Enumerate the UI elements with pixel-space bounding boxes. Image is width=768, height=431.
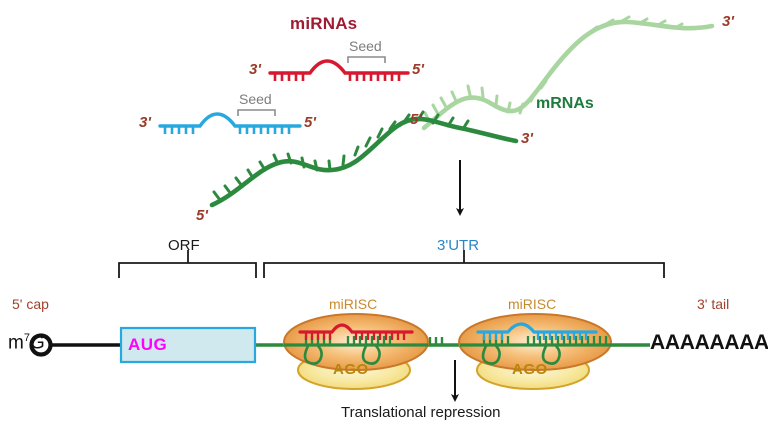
utr-label: 3'UTR: [437, 238, 479, 253]
orf-bracket: [119, 250, 256, 278]
diagram-graphics: [0, 0, 768, 431]
figure-canvas: miRNAs mRNAs 3' 5' Seed 3' 5' Seed 5' 3'…: [0, 0, 768, 431]
m7g-superscript: 7: [24, 332, 30, 344]
mrnas-title: mRNAs: [536, 96, 594, 112]
mirna-blue-3prime-label: 3': [139, 115, 151, 130]
mirna-blue-free: [160, 110, 300, 134]
utr-bracket: [264, 250, 664, 278]
seed-label-blue: Seed: [239, 92, 272, 106]
poly-a-tail: AAAAAAAA: [650, 332, 768, 353]
mrna-dark-3prime-label: 3': [521, 131, 533, 146]
ago-label-left: AGO: [333, 362, 369, 377]
mirisc-label-right: miRISC: [508, 297, 556, 311]
mrna-light-5prime-label: 5': [410, 112, 422, 127]
mrna-light-3prime-label: 3': [722, 14, 734, 29]
seed-label-red: Seed: [349, 39, 382, 53]
mirna-red-5prime-label: 5': [412, 62, 424, 77]
mirna-blue-5prime-label: 5': [304, 115, 316, 130]
m7g-glyph: m7G: [8, 333, 45, 352]
tail-label: 3' tail: [697, 297, 729, 311]
mirisc-label-left: miRISC: [329, 297, 377, 311]
ago-label-right: AGO: [512, 362, 548, 377]
mirnas-title: miRNAs: [290, 15, 357, 32]
mirna-red-3prime-label: 3': [249, 62, 261, 77]
mrna-dark-5prime-label: 5': [196, 208, 208, 223]
outcome-label: Translational repression: [341, 405, 501, 420]
cap-label: 5' cap: [12, 297, 49, 311]
orf-label: ORF: [168, 238, 200, 253]
mirna-red-free: [270, 57, 408, 81]
start-codon-label: AUG: [128, 336, 167, 353]
